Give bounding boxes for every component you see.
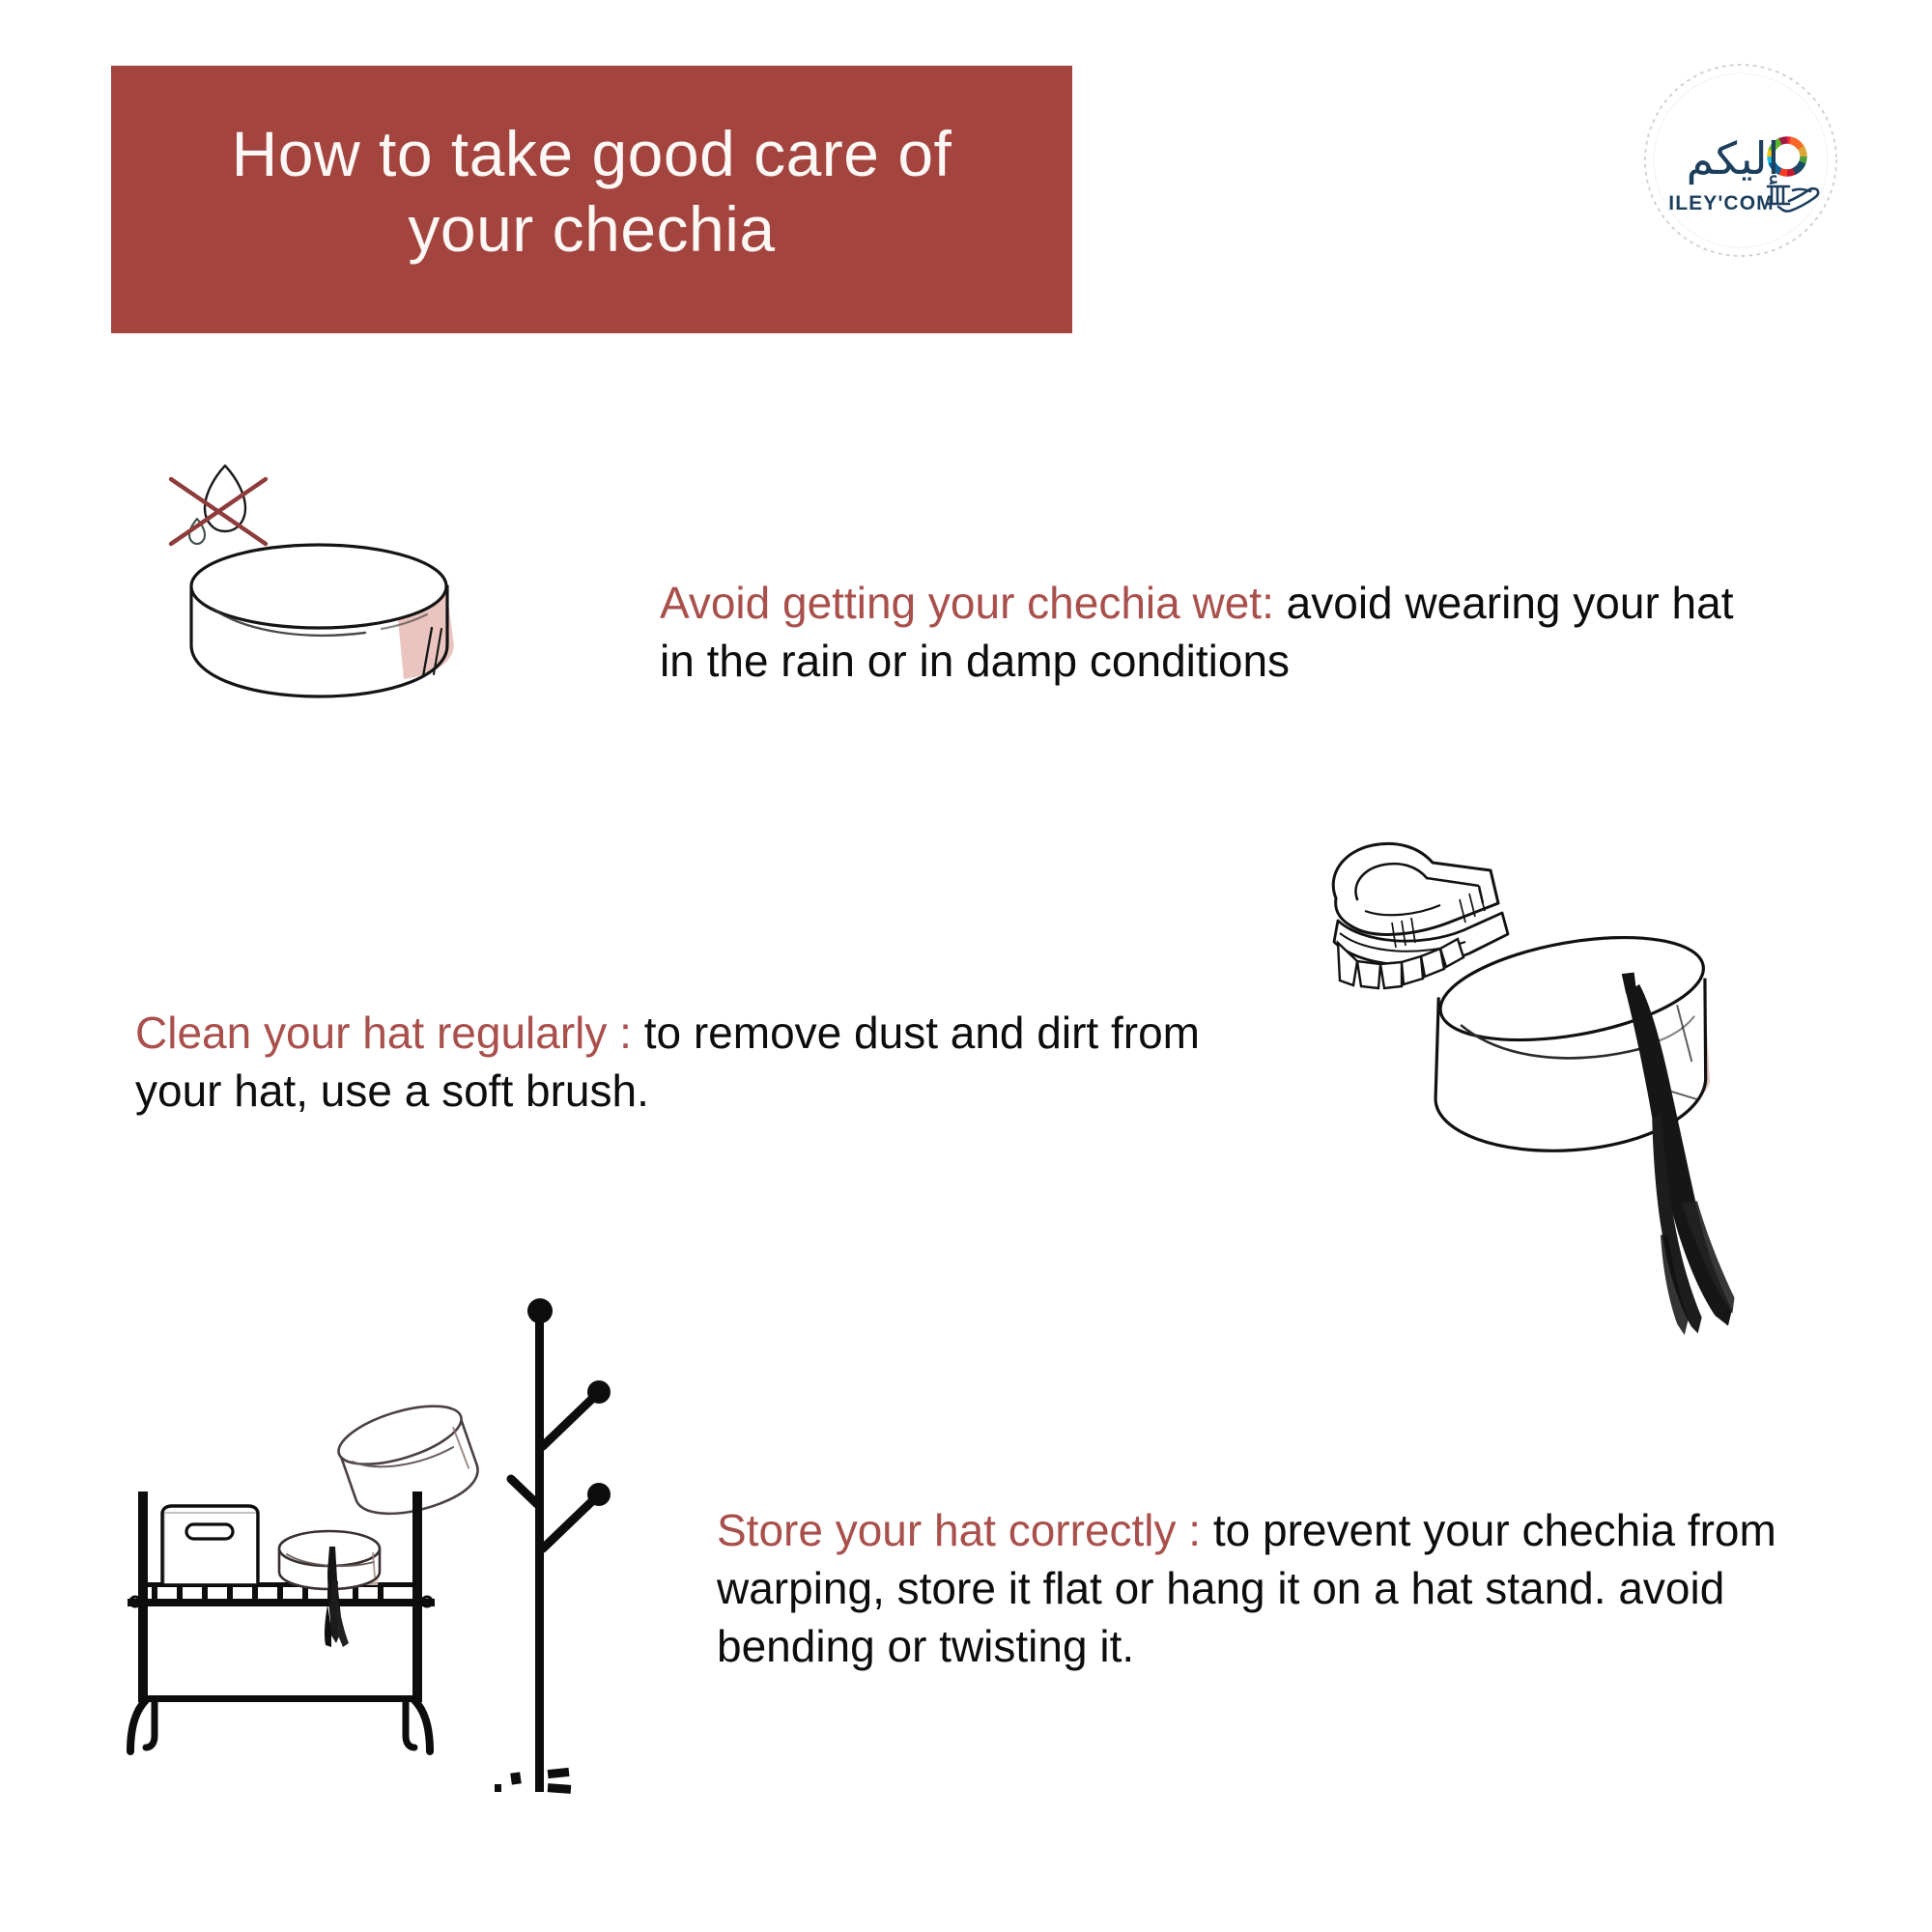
hat-stand-icon [495, 1298, 611, 1794]
hat-storage-illustration [101, 1290, 628, 1889]
shelf-chechia-icon [279, 1531, 380, 1647]
hat-peg-lower [543, 1483, 611, 1548]
brush-and-chechia-illustration [1309, 807, 1821, 1348]
soft-brush-icon [1333, 843, 1508, 988]
tip-text-avoid-wet: Avoid getting your chechia wet: avoid we… [660, 575, 1756, 691]
chechia-hat-tassel-icon [1417, 920, 1749, 1348]
storage-box-icon [162, 1506, 258, 1585]
water-drop-icon [189, 466, 245, 544]
hat-peg-upper [543, 1380, 611, 1446]
chechia-hat-icon [191, 545, 454, 696]
tip-lead-store-correctly: Store your hat correctly : [717, 1505, 1201, 1555]
tip-text-store-correctly: Store your hat correctly : to prevent yo… [717, 1502, 1852, 1675]
title-banner: How to take good care of your chechia [111, 66, 1072, 333]
tip-lead-avoid-wet: Avoid getting your chechia wet: [660, 578, 1274, 628]
logo-latin-name: ILEY'COM [1668, 192, 1774, 214]
chechia-no-water-illustration [155, 440, 541, 773]
logo-arabic-name: إليكم [1687, 132, 1780, 185]
hat-peg-left [511, 1479, 537, 1504]
brand-logo: إليكم ILEY'COM [1640, 60, 1841, 261]
hanging-chechia-icon [332, 1394, 485, 1528]
cross-out-icon [171, 479, 266, 544]
tip-text-clean-regularly: Clean your hat regularly : to remove dus… [135, 1005, 1256, 1121]
tip-lead-clean-regularly: Clean your hat regularly : [135, 1008, 632, 1058]
page-title: How to take good care of your chechia [232, 117, 952, 268]
